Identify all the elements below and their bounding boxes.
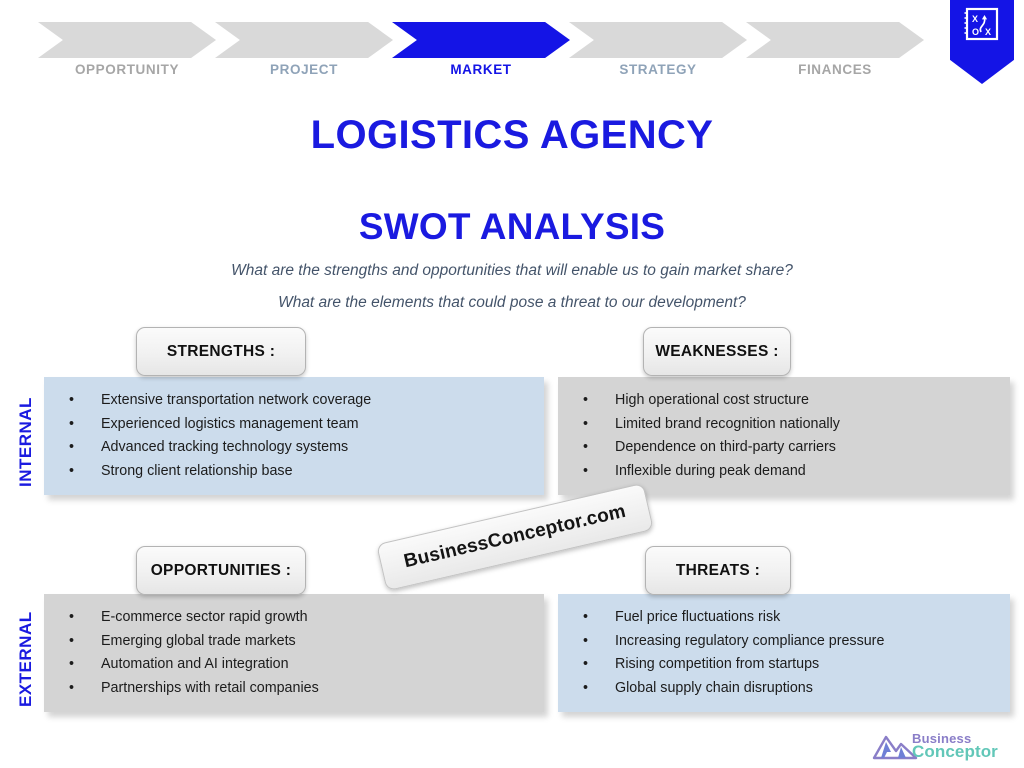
list-item-text: Emerging global trade markets [101,633,296,649]
quadrant-header-label: THREATS : [676,562,760,580]
list-item: •Experienced logistics management team [44,413,544,437]
nav-step-label: MARKET [392,62,570,77]
list-item-text: Dependence on third-party carriers [615,439,836,455]
list-item: •Limited brand recognition nationally [558,413,1010,437]
quadrant-opportunities: •E-commerce sector rapid growth •Emergin… [44,594,544,712]
list-item: •Advanced tracking technology systems [44,436,544,460]
guiding-question-1: What are the strengths and opportunities… [0,262,1024,280]
bullet-icon: • [69,460,74,484]
bullet-icon: • [583,606,588,630]
list-item-text: Limited brand recognition nationally [615,416,840,432]
weaknesses-list: •High operational cost structure •Limite… [558,389,1010,483]
list-item: •Strong client relationship base [44,460,544,484]
axis-label-internal: INTERNAL [16,397,36,487]
strengths-list: •Extensive transportation network covera… [44,389,544,483]
opportunities-list: •E-commerce sector rapid growth •Emergin… [44,606,544,700]
list-item-text: Partnerships with retail companies [101,680,319,696]
list-item: •Rising competition from startups [558,653,1010,677]
brand-footer-logo: Business Conceptor [872,728,1020,764]
bullet-icon: • [583,460,588,484]
list-item-text: Advanced tracking technology systems [101,439,348,455]
section-bookmark-badge: X O X [950,0,1014,84]
guiding-question-2: What are the elements that could pose a … [0,294,1024,312]
list-item: •Inflexible during peak demand [558,460,1010,484]
page-title: LOGISTICS AGENCY [0,113,1024,158]
bullet-icon: • [69,630,74,654]
list-item-text: Fuel price fluctuations risk [615,609,780,625]
list-item-text: Strong client relationship base [101,463,293,479]
quadrant-header-label: WEAKNESSES : [655,343,778,361]
bullet-icon: • [69,606,74,630]
list-item-text: Automation and AI integration [101,656,289,672]
bullet-icon: • [583,677,588,701]
svg-text:X: X [972,14,978,24]
quadrant-header-strengths[interactable]: STRENGTHS : [136,327,306,376]
list-item: •Dependence on third-party carriers [558,436,1010,460]
bullet-icon: • [583,653,588,677]
list-item: •High operational cost structure [558,389,1010,413]
quadrant-header-threats[interactable]: THREATS : [645,546,791,595]
list-item-text: E-commerce sector rapid growth [101,609,308,625]
watermark-text: BusinessConceptor.com [402,501,628,573]
nav-step-label: OPPORTUNITY [38,62,216,77]
nav-step-strategy[interactable]: STRATEGY [569,22,747,58]
list-item: •Automation and AI integration [44,653,544,677]
process-navigation-bar: OPPORTUNITY PROJECT MARKET STRATEGY FINA… [0,0,1024,92]
list-item-text: Increasing regulatory compliance pressur… [615,633,884,649]
quadrant-header-opportunities[interactable]: OPPORTUNITIES : [136,546,306,595]
bullet-icon: • [69,413,74,437]
list-item: •Increasing regulatory compliance pressu… [558,630,1010,654]
nav-step-label: STRATEGY [569,62,747,77]
nav-step-market[interactable]: MARKET [392,22,570,58]
list-item: •Global supply chain disruptions [558,677,1010,701]
svg-text:X: X [985,27,991,37]
list-item: •E-commerce sector rapid growth [44,606,544,630]
nav-step-finances[interactable]: FINANCES [746,22,924,58]
strategy-board-icon: X O X [962,6,1002,46]
threats-list: •Fuel price fluctuations risk •Increasin… [558,606,1010,700]
quadrant-header-label: OPPORTUNITIES : [151,562,292,580]
bullet-icon: • [69,677,74,701]
quadrant-threats: •Fuel price fluctuations risk •Increasin… [558,594,1010,712]
list-item-text: Extensive transportation network coverag… [101,392,371,408]
list-item-text: Rising competition from startups [615,656,819,672]
list-item: •Fuel price fluctuations risk [558,606,1010,630]
axis-label-external: EXTERNAL [16,611,36,707]
bullet-icon: • [583,436,588,460]
bullet-icon: • [583,413,588,437]
nav-step-project[interactable]: PROJECT [215,22,393,58]
quadrant-weaknesses: •High operational cost structure •Limite… [558,377,1010,495]
quadrant-header-weaknesses[interactable]: WEAKNESSES : [643,327,791,376]
bullet-icon: • [69,389,74,413]
bullet-icon: • [583,389,588,413]
chevron-shape-icon [392,22,570,58]
bullet-icon: • [583,630,588,654]
chevron-shape-icon [38,22,216,58]
nav-step-opportunity[interactable]: OPPORTUNITY [38,22,216,58]
nav-step-label: FINANCES [746,62,924,77]
brand-word-conceptor: Conceptor [912,743,998,760]
brand-wordmark: Business Conceptor [912,732,998,760]
list-item-text: Experienced logistics management team [101,416,358,432]
quadrant-header-label: STRENGTHS : [167,343,275,361]
chevron-shape-icon [569,22,747,58]
list-item-text: Global supply chain disruptions [615,680,813,696]
list-item: •Emerging global trade markets [44,630,544,654]
bullet-icon: • [69,653,74,677]
chevron-shape-icon [746,22,924,58]
nav-step-label: PROJECT [215,62,393,77]
bullet-icon: • [69,436,74,460]
svg-text:O: O [972,27,979,37]
quadrant-strengths: •Extensive transportation network covera… [44,377,544,495]
list-item-text: Inflexible during peak demand [615,463,806,479]
chevron-shape-icon [215,22,393,58]
analysis-subtitle-heading: SWOT ANALYSIS [0,206,1024,248]
list-item: •Partnerships with retail companies [44,677,544,701]
list-item: •Extensive transportation network covera… [44,389,544,413]
list-item-text: High operational cost structure [615,392,809,408]
